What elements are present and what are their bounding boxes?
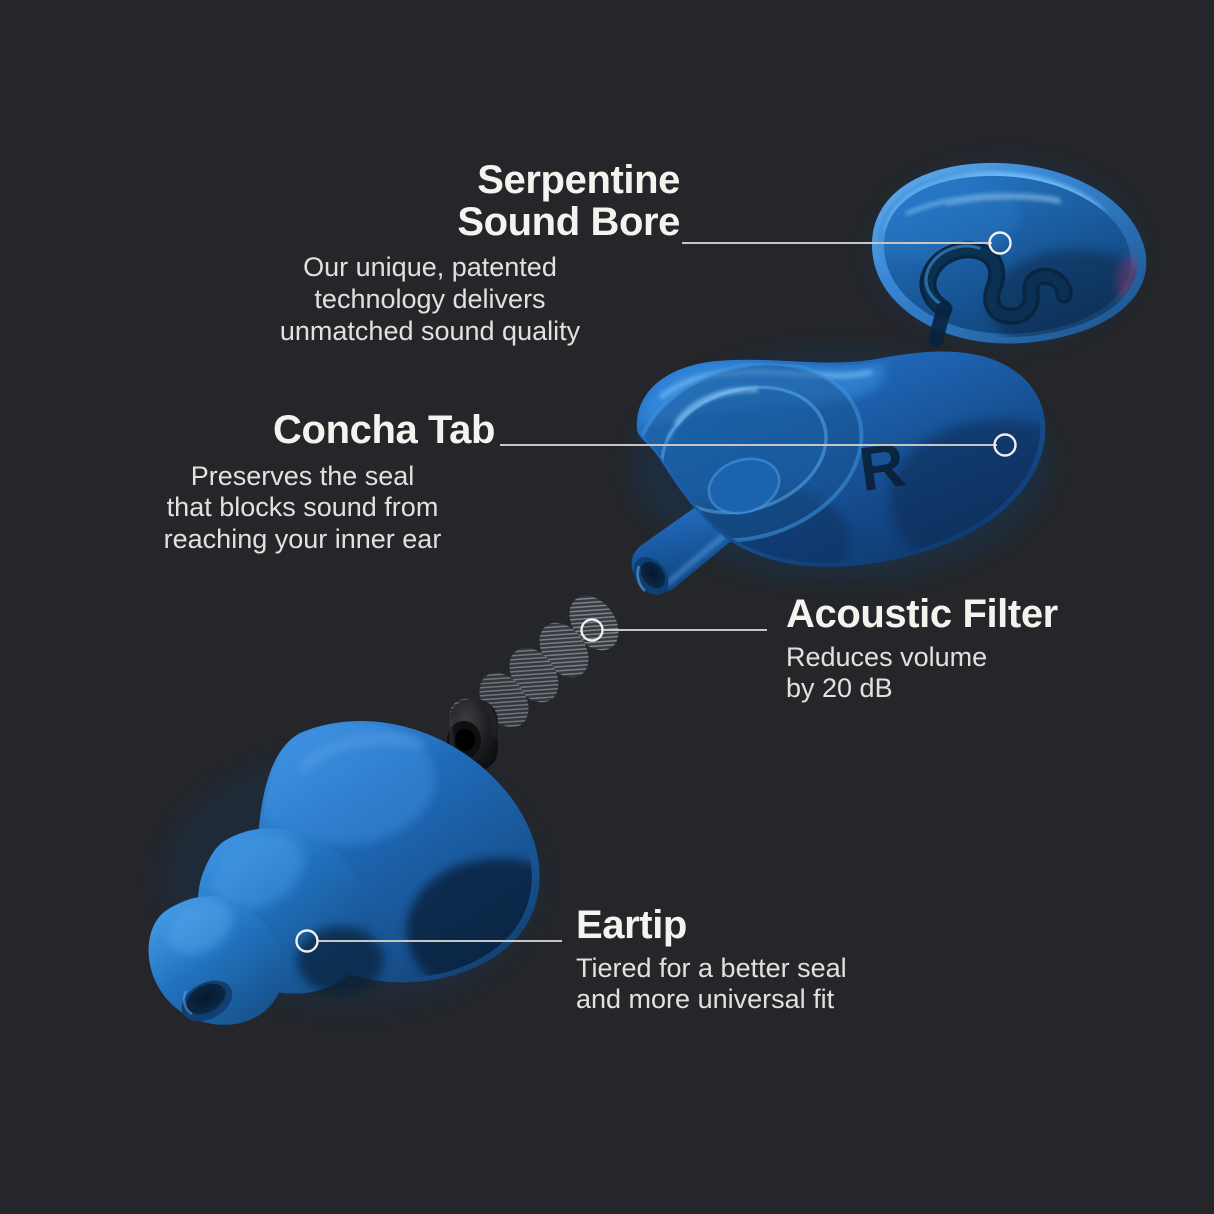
callout-eartip: Eartip Tiered for a better seal and more… [576, 905, 976, 1016]
part-sound-bore-disc [840, 160, 1160, 360]
diagram-canvas: R [0, 0, 1214, 1214]
part-earplug-body: R [611, 335, 1110, 601]
part-eartip-tiered [149, 715, 590, 1030]
callout-body-concha-tab: Preserves the seal that blocks sound fro… [110, 461, 495, 557]
callout-body-eartip: Tiered for a better seal and more univer… [576, 953, 976, 1017]
callout-acoustic-filter: Acoustic Filter Reduces volume by 20 dB [786, 594, 1186, 705]
callout-title-eartip: Eartip [576, 905, 976, 947]
callout-body-acoustic-filter: Reduces volume by 20 dB [786, 642, 1186, 706]
callout-title-sound-bore: Serpentine Sound Bore [180, 160, 680, 243]
r-marking: R [855, 430, 909, 505]
callout-body-sound-bore: Our unique, patented technology delivers… [180, 252, 680, 348]
callout-title-concha-tab: Concha Tab [110, 410, 495, 452]
callout-concha-tab: Concha Tab Preserves the seal that block… [110, 410, 495, 556]
callout-sound-bore: Serpentine Sound Bore Our unique, patent… [180, 160, 680, 348]
callout-title-acoustic-filter: Acoustic Filter [786, 594, 1186, 636]
